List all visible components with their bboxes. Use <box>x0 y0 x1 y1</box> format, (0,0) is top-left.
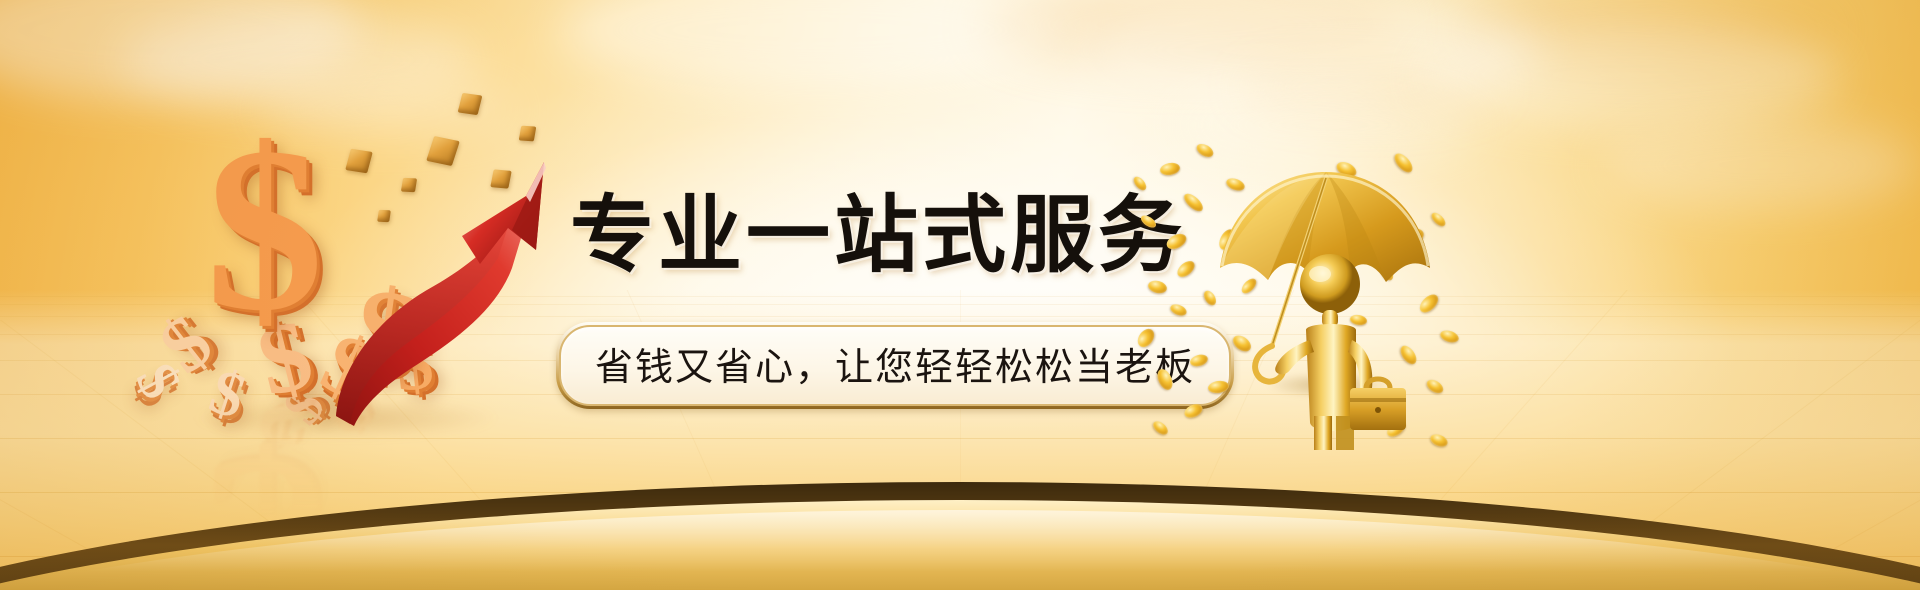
gold-coin-icon <box>1189 353 1209 369</box>
cloud-icon <box>560 0 1080 90</box>
gold-coin-icon <box>1131 174 1148 192</box>
cloud-icon <box>0 0 360 100</box>
cloud-icon <box>1460 0 1840 70</box>
gold-coin-icon <box>1174 258 1197 280</box>
cloud-icon <box>120 10 480 110</box>
gold-coin-icon <box>1194 141 1215 160</box>
cloud-icon <box>1080 0 1540 110</box>
subtitle-text: 省钱又省心，让您轻轻松松当老板 <box>595 336 1195 391</box>
page-title: 专业一站式服务 <box>570 168 1186 289</box>
gold-coin-icon <box>1155 367 1176 392</box>
gold-coin-icon <box>1134 326 1157 350</box>
golden-man-with-umbrella-icon <box>1210 160 1440 450</box>
gold-coin-icon <box>1169 302 1189 318</box>
gold-coin-icon <box>1164 231 1189 252</box>
cloud-icon <box>980 0 1400 70</box>
gold-coin-icon <box>1182 402 1204 421</box>
gold-coin-icon <box>1151 419 1170 438</box>
gold-coin-icon <box>1139 213 1158 230</box>
gold-coin-icon <box>1181 191 1205 215</box>
cloud-icon <box>1600 120 1920 210</box>
gold-coin-icon <box>1159 161 1181 176</box>
gold-coin-icon <box>1147 279 1168 295</box>
gold-coin-icon <box>1439 328 1460 344</box>
cloud-icon <box>1420 20 1840 130</box>
promo-banner: $ $ $ $ $ $ $ $ $ $ $ $ <box>0 0 1920 590</box>
